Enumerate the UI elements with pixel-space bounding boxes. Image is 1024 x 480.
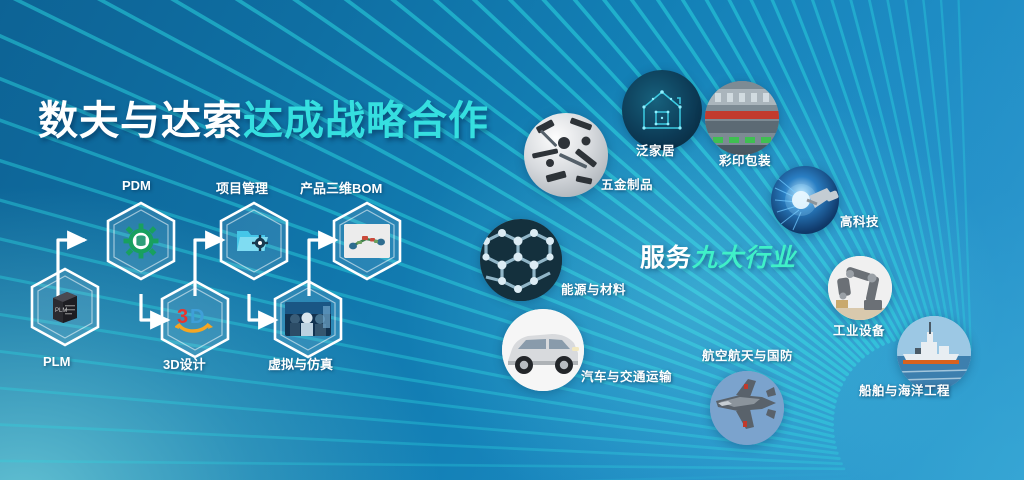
flow-node-pdm[interactable] [104,200,178,282]
suv-car-photo [502,309,584,391]
headline-primary: 数夫与达索 [38,99,243,143]
industry-label-home: 泛家居 [636,140,675,159]
industry-label-equipment: 工业设备 [833,320,885,339]
svg-text:D: D [190,306,204,328]
industry-label-hardware: 五金制品 [601,174,653,193]
printing-press-photo [705,81,779,155]
svg-text:PLM: PLM [55,308,67,314]
promo-banner: 数夫与达索达成战略合作 [0,0,1024,480]
page-title: 数夫与达索达成战略合作 [38,88,489,146]
flow-node-plm[interactable]: PLM [28,266,102,348]
industry-circle-energy[interactable] [480,219,562,301]
industry-label-energy: 能源与材料 [561,279,626,298]
industry-circle-home[interactable] [622,70,702,150]
hitech-circuit-photo [771,166,839,234]
industry-circle-marine[interactable] [897,316,971,390]
svg-text:3: 3 [177,306,188,328]
folder-gear-icon [234,221,274,261]
molecule-lattice-photo [480,219,562,301]
robot-arm-photo [828,256,892,320]
industry-label-aerospace: 航空航天与国防 [702,345,793,364]
plm-flow-diagram: PLM PLM [18,178,438,368]
flow-label-3d: 3D设计 [163,354,206,373]
industry-circle-automotive[interactable] [502,309,584,391]
hardware-tools-photo [524,113,608,197]
flow-label-bom: 产品三维BOM [300,178,382,197]
flow-label-plm: PLM [43,354,70,369]
slogan-accent: 九大行业 [692,244,796,272]
flow-label-pdm: PDM [122,178,151,193]
flow-label-simulation: 虚拟与仿真 [268,354,333,373]
industry-circle-printing[interactable] [705,81,779,155]
simulation-photo [285,302,331,336]
slogan-primary: 服务 [640,244,692,272]
flow-node-project-management[interactable] [217,200,291,282]
gear-database-icon [121,221,161,261]
industry-label-hitech: 高科技 [840,211,879,230]
server-tower-icon: PLM [45,287,85,327]
logo-3d-icon: 3 D [175,299,215,339]
naval-ship-photo [897,316,971,390]
flow-label-project-management: 项目管理 [216,178,268,197]
smart-house-icon [622,70,702,150]
service-slogan: 服务九大行业 [640,238,796,274]
industry-circle-hardware[interactable] [524,113,608,197]
chassis-3d-photo [344,224,390,258]
fighter-jet-photo [710,371,784,445]
flow-node-3d[interactable]: 3 D [158,278,232,360]
industry-label-printing: 彩印包装 [719,150,771,169]
flow-node-bom[interactable] [330,200,404,282]
flow-node-simulation[interactable] [271,278,345,360]
industry-circle-hitech[interactable] [771,166,839,234]
industry-label-marine: 船舶与海洋工程 [859,380,950,399]
industry-circle-aerospace[interactable] [710,371,784,445]
industry-label-automotive: 汽车与交通运输 [581,366,672,385]
industry-circle-equipment[interactable] [828,256,892,320]
headline-accent: 达成战略合作 [243,99,489,143]
